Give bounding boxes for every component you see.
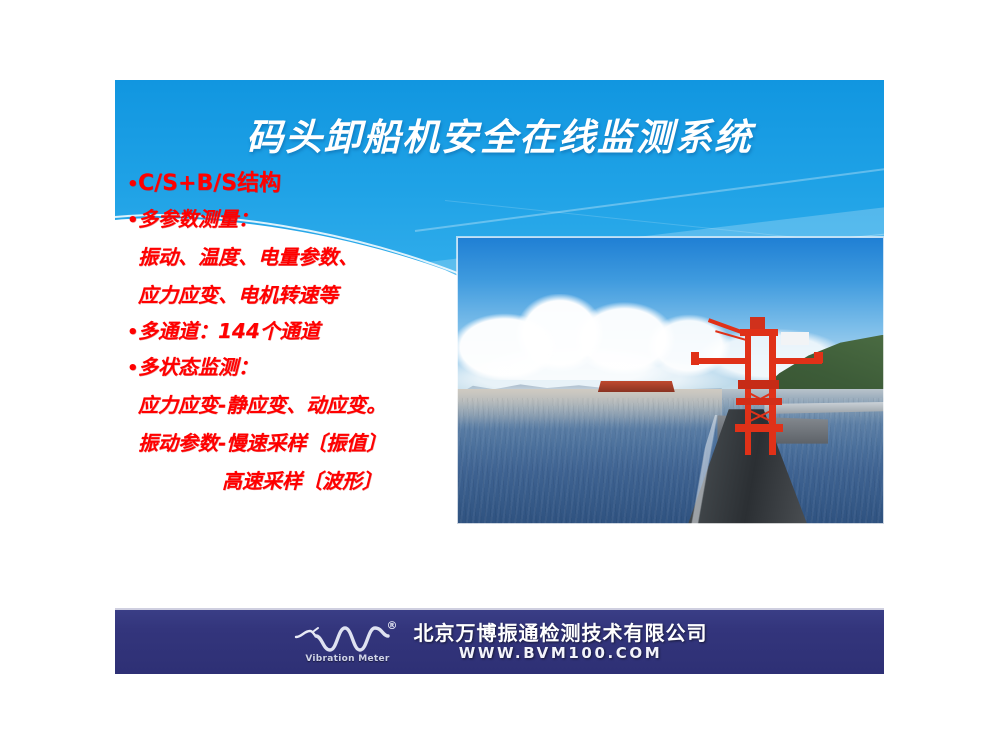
page-title: 码头卸船机安全在线监测系统 — [115, 107, 884, 161]
waveform-icon — [292, 619, 400, 655]
list-item: 振动、温度、电量参数、 — [127, 238, 477, 276]
list-item: 多通道：144个通道 — [127, 314, 477, 350]
logo-wordmark: Vibration Meter — [300, 654, 396, 664]
list-item: 应力应变、电机转速等 — [127, 276, 477, 314]
registered-trademark-icon: ® — [387, 619, 398, 632]
footer-content: ® Vibration Meter 北京万博振通检测技术有限公司 WWW.BVM… — [115, 610, 884, 674]
photo-frame — [457, 237, 884, 524]
bullet-list: C/S+B/S结构 多参数测量： 振动、温度、电量参数、 应力应变、电机转速等 … — [127, 166, 477, 500]
list-item: 高速采样〔波形〕 — [127, 462, 477, 500]
footer-company-block: 北京万博振通检测技术有限公司 WWW.BVM100.COM — [414, 622, 708, 663]
ship-unloader-photo — [457, 237, 884, 524]
list-item: 振动参数-慢速采样〔振值〕 — [127, 424, 477, 462]
company-website[interactable]: WWW.BVM100.COM — [414, 644, 708, 663]
list-item: 应力应变-静应变、动应变。 — [127, 386, 477, 424]
slide-canvas: 码头卸船机安全在线监测系统 C/S+B/S结构 多参数测量： 振动、温度、电量参… — [0, 0, 1000, 750]
vibration-meter-logo: ® Vibration Meter — [292, 619, 400, 665]
list-item: C/S+B/S结构 — [127, 166, 477, 202]
list-item: 多状态监测： — [127, 350, 477, 386]
slide: 码头卸船机安全在线监测系统 C/S+B/S结构 多参数测量： 振动、温度、电量参… — [115, 80, 884, 672]
list-item: 多参数测量： — [127, 202, 477, 238]
footer-bar: ® Vibration Meter 北京万博振通检测技术有限公司 WWW.BVM… — [115, 608, 884, 674]
company-name: 北京万博振通检测技术有限公司 — [414, 622, 708, 644]
